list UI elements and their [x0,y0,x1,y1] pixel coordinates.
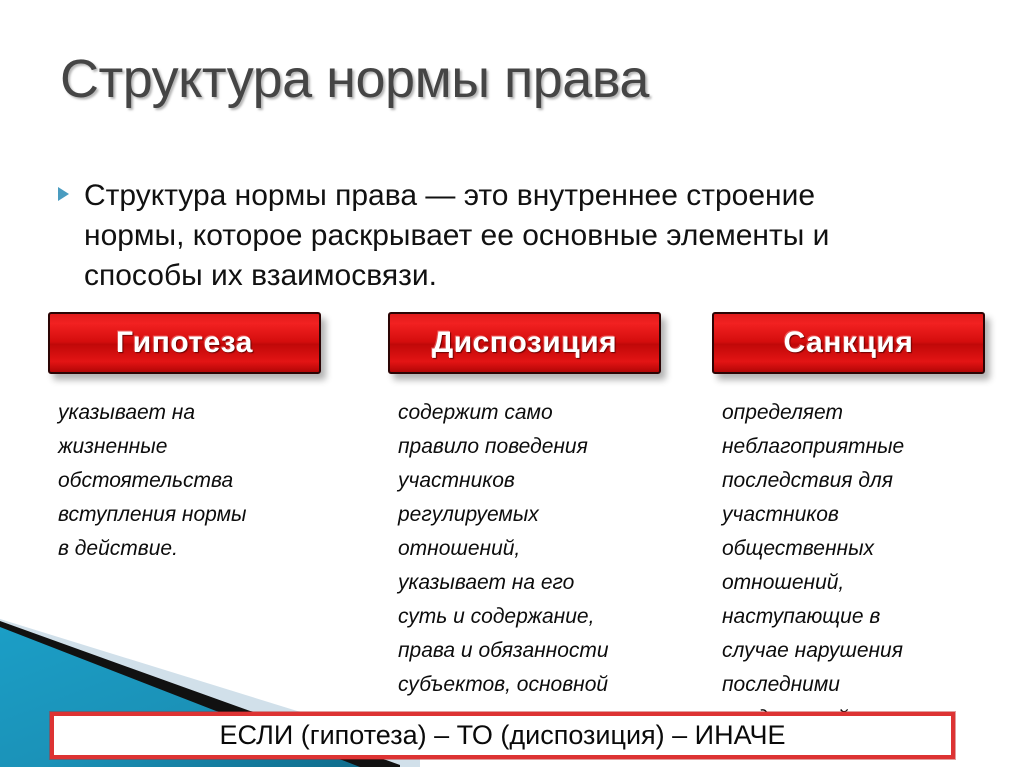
description-line: последними [722,668,985,702]
formula-text: ЕСЛИ (гипотеза) – ТО (диспозиция) – ИНАЧ… [220,720,786,751]
description-line: регулируемых [398,498,661,532]
description-line: жизненные [58,430,321,464]
description-line: права и обязанности [398,634,661,668]
description-line: указывает на его [398,566,661,600]
description-line: отношений, [722,566,985,600]
description-line: правило поведения [398,430,661,464]
description-line: случае нарушения [722,634,985,668]
chip-label: Санкция [784,326,914,360]
column-description-dispoziciya: содержит самоправило поведенияучастников… [388,396,661,736]
page-title: Структура нормы права [60,48,960,110]
description-line: содержит само [398,396,661,430]
column-description-gipoteza: указывает нажизненныеобстоятельствавступ… [48,396,321,566]
description-line: неблагоприятные [722,430,985,464]
triangle-bullet-icon [58,187,69,201]
chip-button-gipoteza[interactable]: Гипотеза [48,312,321,374]
description-line: наступающие в [722,600,985,634]
description-line: определяет [722,396,985,430]
description-line: указывает на [58,396,321,430]
description-line: суть и содержание, [398,600,661,634]
description-line: в действие. [58,532,321,566]
description-line: общественных [722,532,985,566]
description-line: вступления нормы [58,498,321,532]
description-line: субъектов, основной [398,668,661,702]
description-line: последствия для [722,464,985,498]
chip-label: Диспозиция [432,326,617,360]
chip-label: Гипотеза [116,326,253,360]
slide-canvas: Структура нормы права Структура нормы пр… [0,0,1024,767]
formula-banner: ЕСЛИ (гипотеза) – ТО (диспозиция) – ИНАЧ… [50,712,955,759]
column-sankciya: Санкция определяетнеблагоприятныепоследс… [712,312,985,736]
intro-paragraph: Структура нормы права — это внутреннее с… [84,176,904,296]
column-description-sankciya: определяетнеблагоприятныепоследствия для… [712,396,985,736]
description-line: участников [398,464,661,498]
column-gipoteza: Гипотеза указывает нажизненныеобстоятель… [48,312,321,566]
description-line: обстоятельства [58,464,321,498]
description-line: отношений, [398,532,661,566]
description-line: участников [722,498,985,532]
column-dispoziciya: Диспозиция содержит самоправило поведени… [388,312,661,736]
chip-button-sankciya[interactable]: Санкция [712,312,985,374]
chip-button-dispoziciya[interactable]: Диспозиция [388,312,661,374]
intro-bullet-block: Структура нормы права — это внутреннее с… [58,176,958,296]
